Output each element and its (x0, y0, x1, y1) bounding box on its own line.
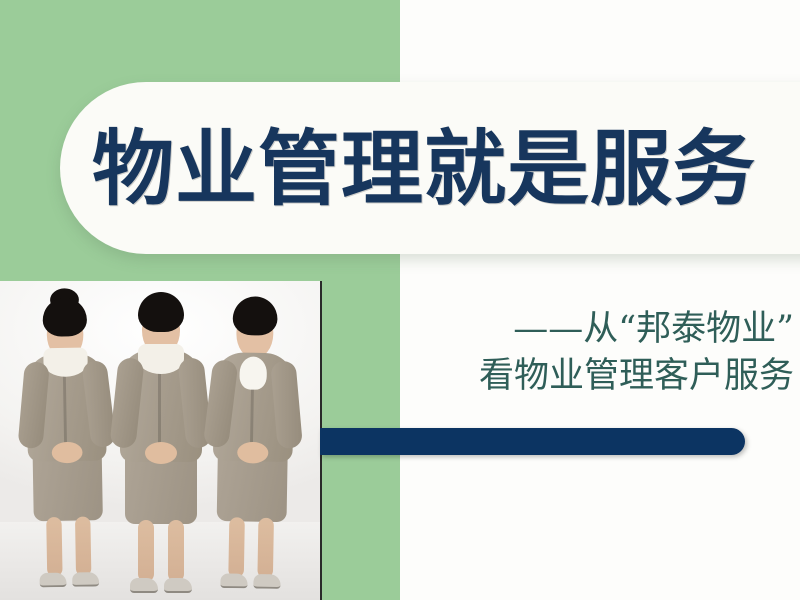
hair (233, 296, 278, 336)
subtitle-line-2: 看物业管理客户服务 (418, 353, 794, 400)
shoe-left (39, 573, 66, 588)
leg-right (168, 520, 184, 582)
neck-bow (239, 356, 267, 389)
slide-canvas: 物业管理就是服务 (0, 0, 800, 600)
clasped-hands (145, 442, 177, 464)
staff-bowing-photo (0, 281, 322, 600)
leg-left (46, 517, 62, 577)
shoe-right (253, 574, 280, 589)
leg-left (228, 517, 245, 577)
page-title: 物业管理就是服务 (92, 104, 782, 234)
shoe-left (130, 578, 158, 593)
subtitle-line-1: ——从“邦泰物业” (418, 306, 794, 353)
staff-figure-left (17, 297, 114, 587)
leg-left (138, 520, 154, 582)
hair (42, 298, 87, 337)
shoe-right (164, 578, 192, 593)
hair (138, 292, 184, 332)
shoe-right (72, 572, 99, 587)
clasped-hands (237, 442, 268, 464)
accent-bar (320, 428, 745, 455)
shoe-left (220, 573, 247, 588)
leg-right (75, 516, 91, 576)
staff-figure-right (203, 296, 301, 589)
leg-right (257, 518, 274, 578)
collar (138, 344, 184, 374)
subtitle-block: ——从“邦泰物业” 看物业管理客户服务 (418, 306, 794, 400)
staff-figure-center (112, 292, 208, 592)
